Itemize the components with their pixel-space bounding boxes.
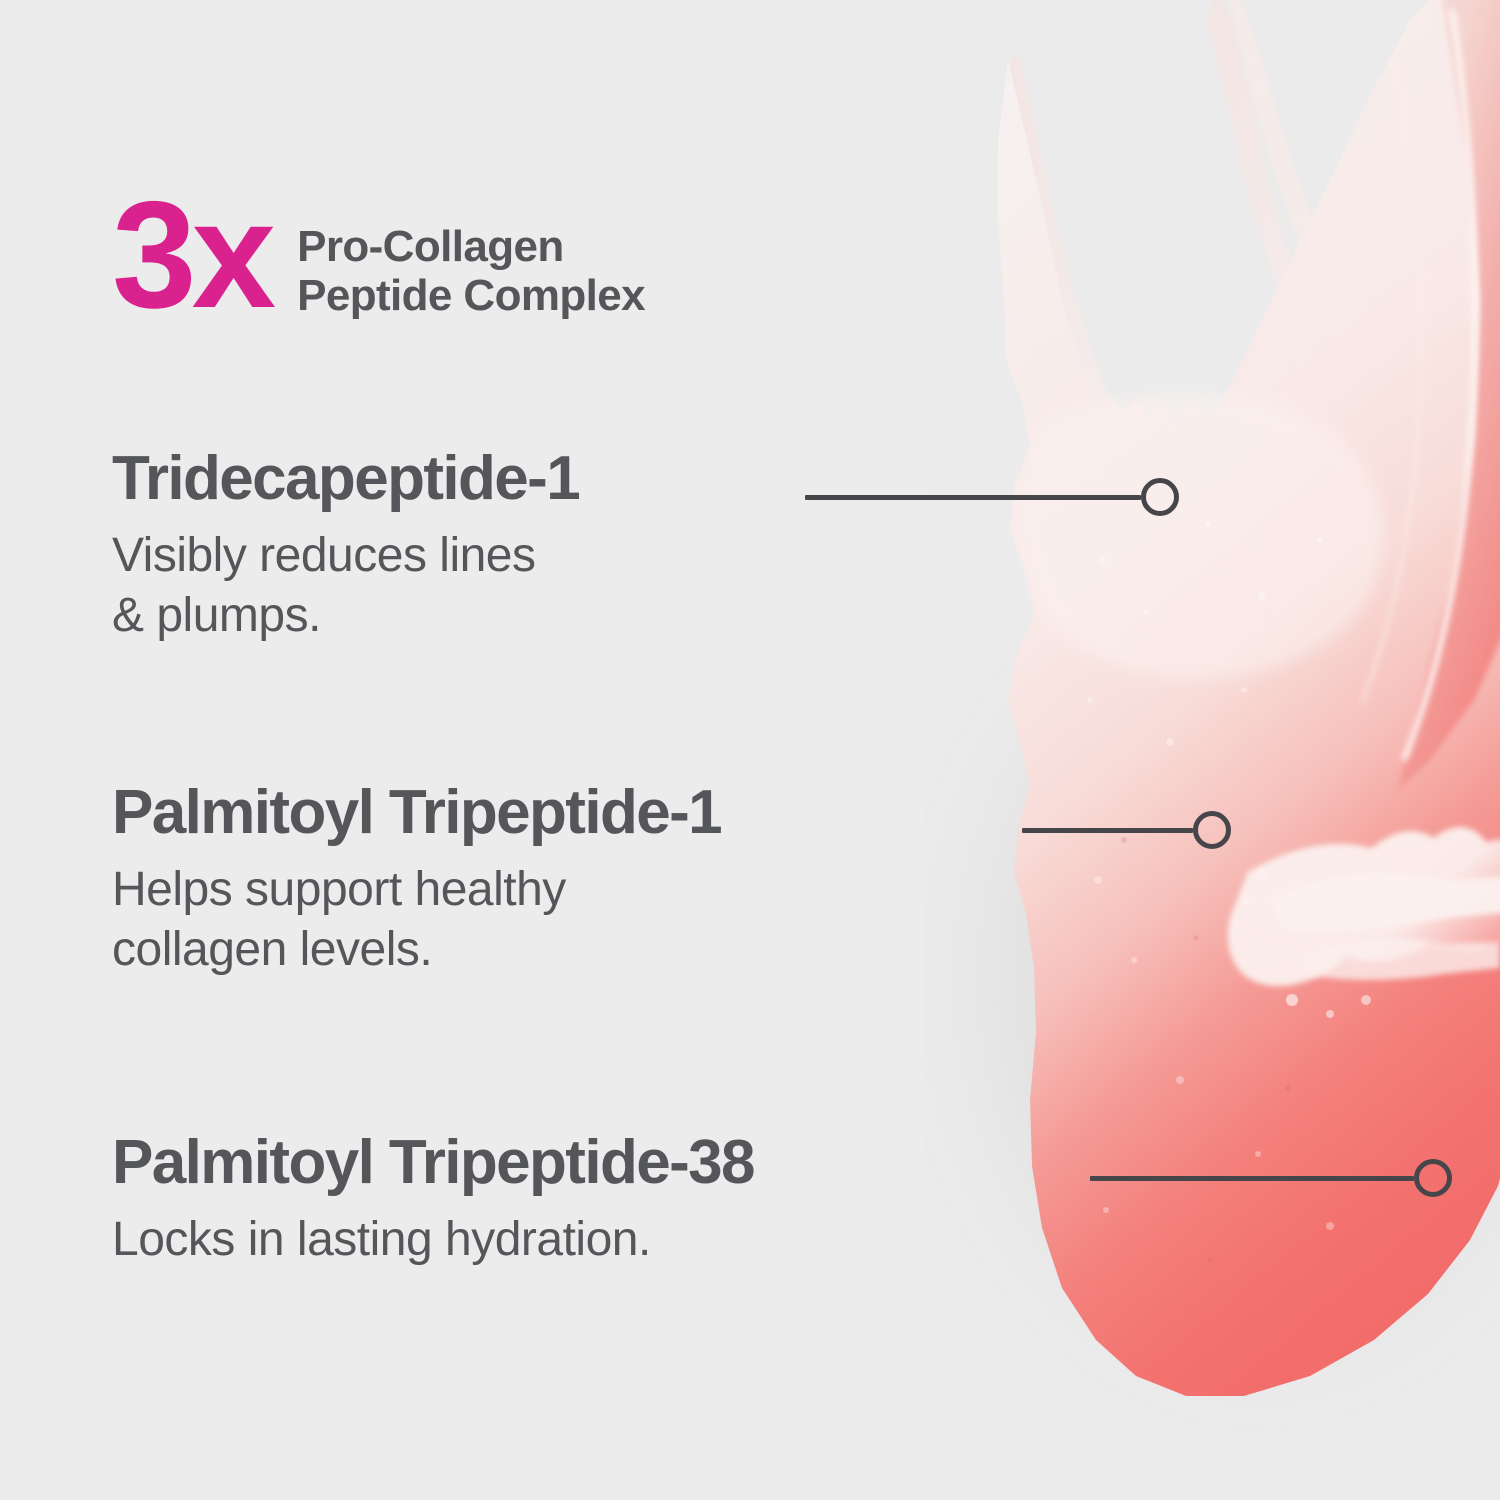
callout-marker-3-icon — [1414, 1159, 1452, 1197]
callout-marker-2-icon — [1193, 811, 1231, 849]
ingredient-block-3: Palmitoyl Tripeptide-38 Locks in lasting… — [112, 1132, 754, 1270]
callout-marker-1-icon — [1141, 478, 1179, 516]
ingredient-description: Visibly reduces lines & plumps. — [112, 526, 579, 647]
header-title: Pro-Collagen Peptide Complex — [297, 222, 645, 321]
header-block: 3x Pro-Collagen Peptide Complex — [112, 196, 645, 321]
header-title-line-1: Pro-Collagen — [297, 222, 645, 271]
leader-line-1 — [805, 495, 1141, 500]
leader-line-3 — [1090, 1176, 1414, 1181]
header-title-line-2: Peptide Complex — [297, 271, 645, 320]
ingredient-block-2: Palmitoyl Tripeptide-1 Helps support hea… — [112, 782, 721, 981]
product-infographic: 3x Pro-Collagen Peptide Complex Tridecap… — [0, 0, 1500, 1500]
multiplier-3x: 3x — [112, 190, 271, 321]
leader-line-2 — [1022, 828, 1193, 833]
ingredient-name: Palmitoyl Tripeptide-1 — [112, 782, 721, 844]
ingredient-name: Palmitoyl Tripeptide-38 — [112, 1132, 754, 1194]
ingredient-block-1: Tridecapeptide-1 Visibly reduces lines &… — [112, 448, 579, 647]
ingredient-description: Locks in lasting hydration. — [112, 1210, 754, 1270]
ingredient-description: Helps support healthy collagen levels. — [112, 860, 721, 981]
ingredient-name: Tridecapeptide-1 — [112, 448, 579, 510]
